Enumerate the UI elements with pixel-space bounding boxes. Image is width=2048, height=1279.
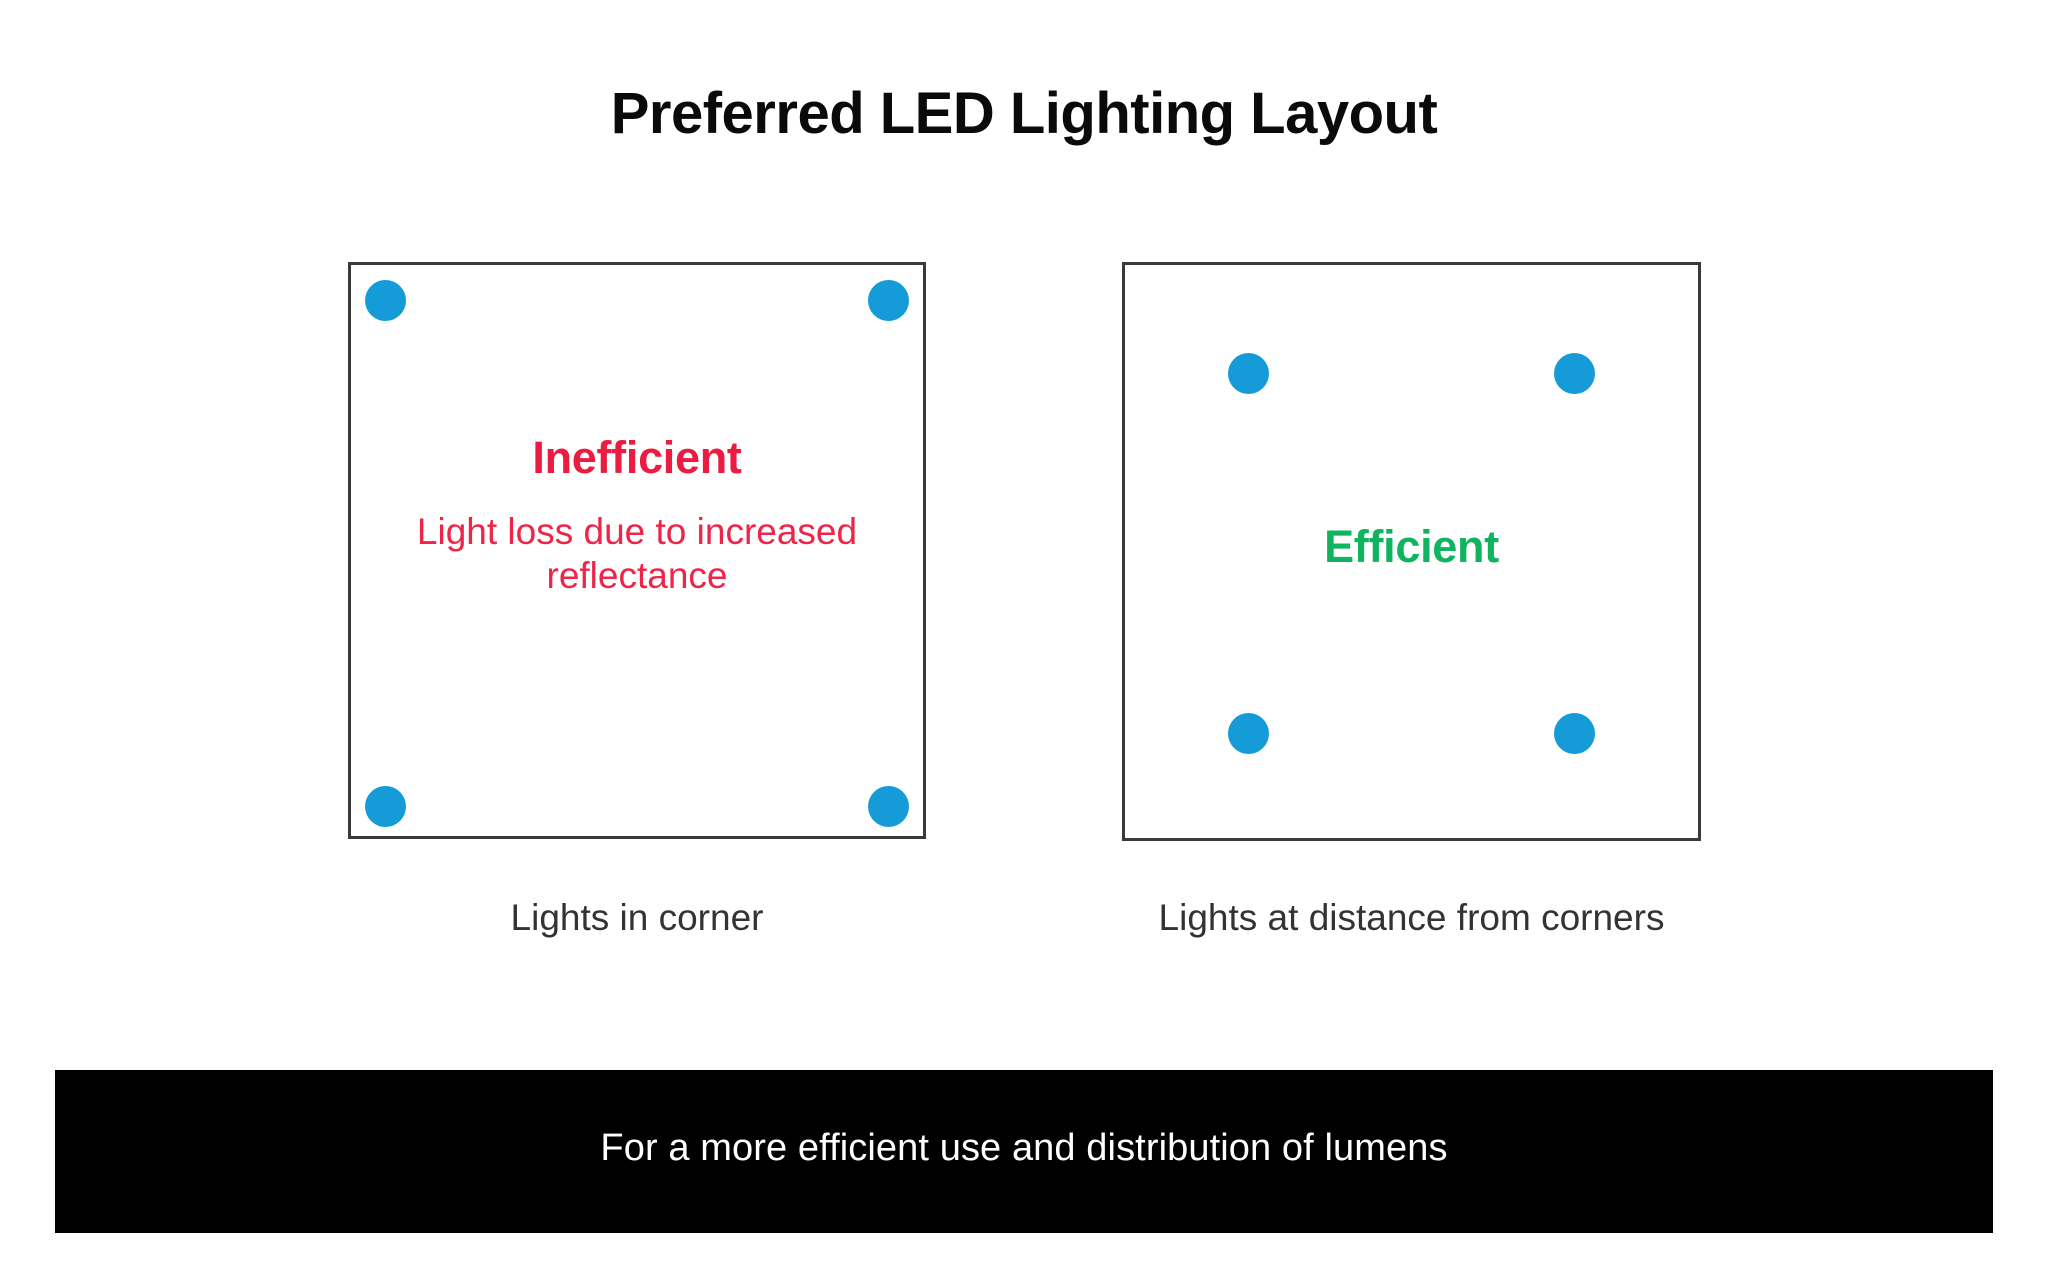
- led-dot-icon: [868, 280, 909, 321]
- led-dot-icon: [1228, 353, 1269, 394]
- led-dot-icon: [1554, 353, 1595, 394]
- footer-banner-text: For a more efficient use and distributio…: [55, 1070, 1993, 1233]
- efficient-caption: Lights at distance from corners: [1062, 896, 1761, 940]
- efficient-heading: Efficient: [1122, 522, 1701, 572]
- led-dot-icon: [1228, 713, 1269, 754]
- inefficient-caption: Lights in corner: [288, 896, 986, 940]
- inefficient-heading: Inefficient: [348, 433, 926, 483]
- led-dot-icon: [365, 786, 406, 827]
- led-dot-icon: [1554, 713, 1595, 754]
- lighting-layout-diagram: Inefficient Light loss due to increased …: [0, 0, 2048, 1060]
- led-dot-icon: [868, 786, 909, 827]
- inefficient-subtext: Light loss due to increased reflectance: [398, 510, 876, 599]
- led-dot-icon: [365, 280, 406, 321]
- footer-banner: For a more efficient use and distributio…: [55, 1070, 1993, 1233]
